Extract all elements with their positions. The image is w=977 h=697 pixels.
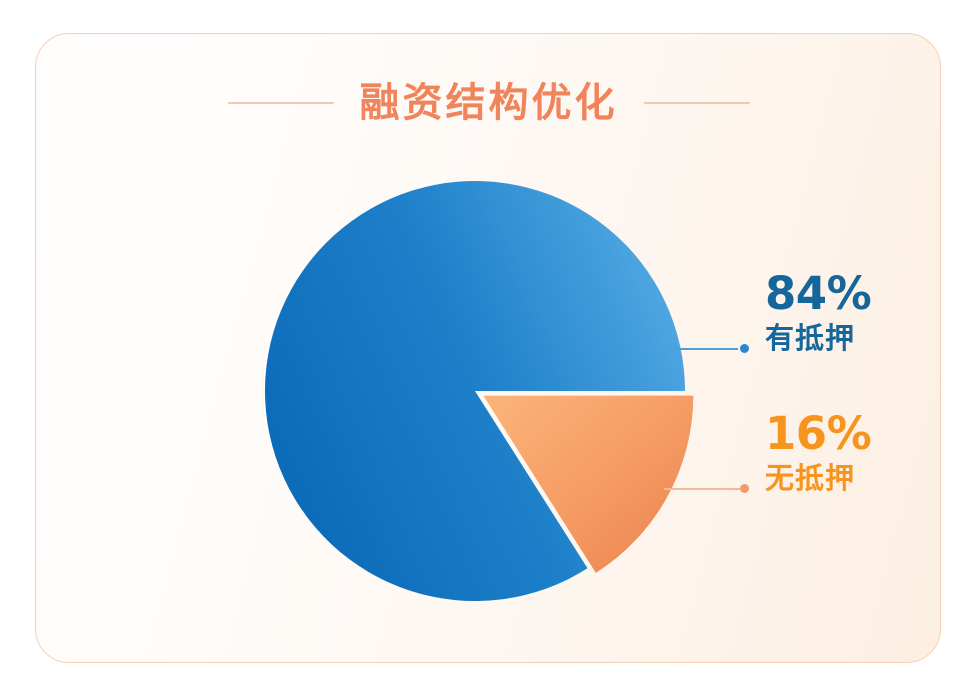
legend-value-secured: 84% <box>765 271 955 316</box>
pie-chart-svg <box>248 165 708 610</box>
legend-item-unsecured: 16% 无抵押 <box>765 411 955 495</box>
infographic-canvas: 融资结构优化 <box>0 0 977 697</box>
pie-chart <box>248 165 708 610</box>
leader-dot-secured <box>740 344 749 353</box>
legend-item-secured: 84% 有抵押 <box>765 271 955 355</box>
legend-label-secured: 有抵押 <box>765 323 955 355</box>
legend-value-unsecured: 16% <box>765 411 955 456</box>
leader-dot-unsecured <box>740 484 749 493</box>
leader-line-secured <box>676 348 738 350</box>
legend-label-unsecured: 无抵押 <box>765 463 955 495</box>
leader-line-unsecured <box>664 488 740 490</box>
